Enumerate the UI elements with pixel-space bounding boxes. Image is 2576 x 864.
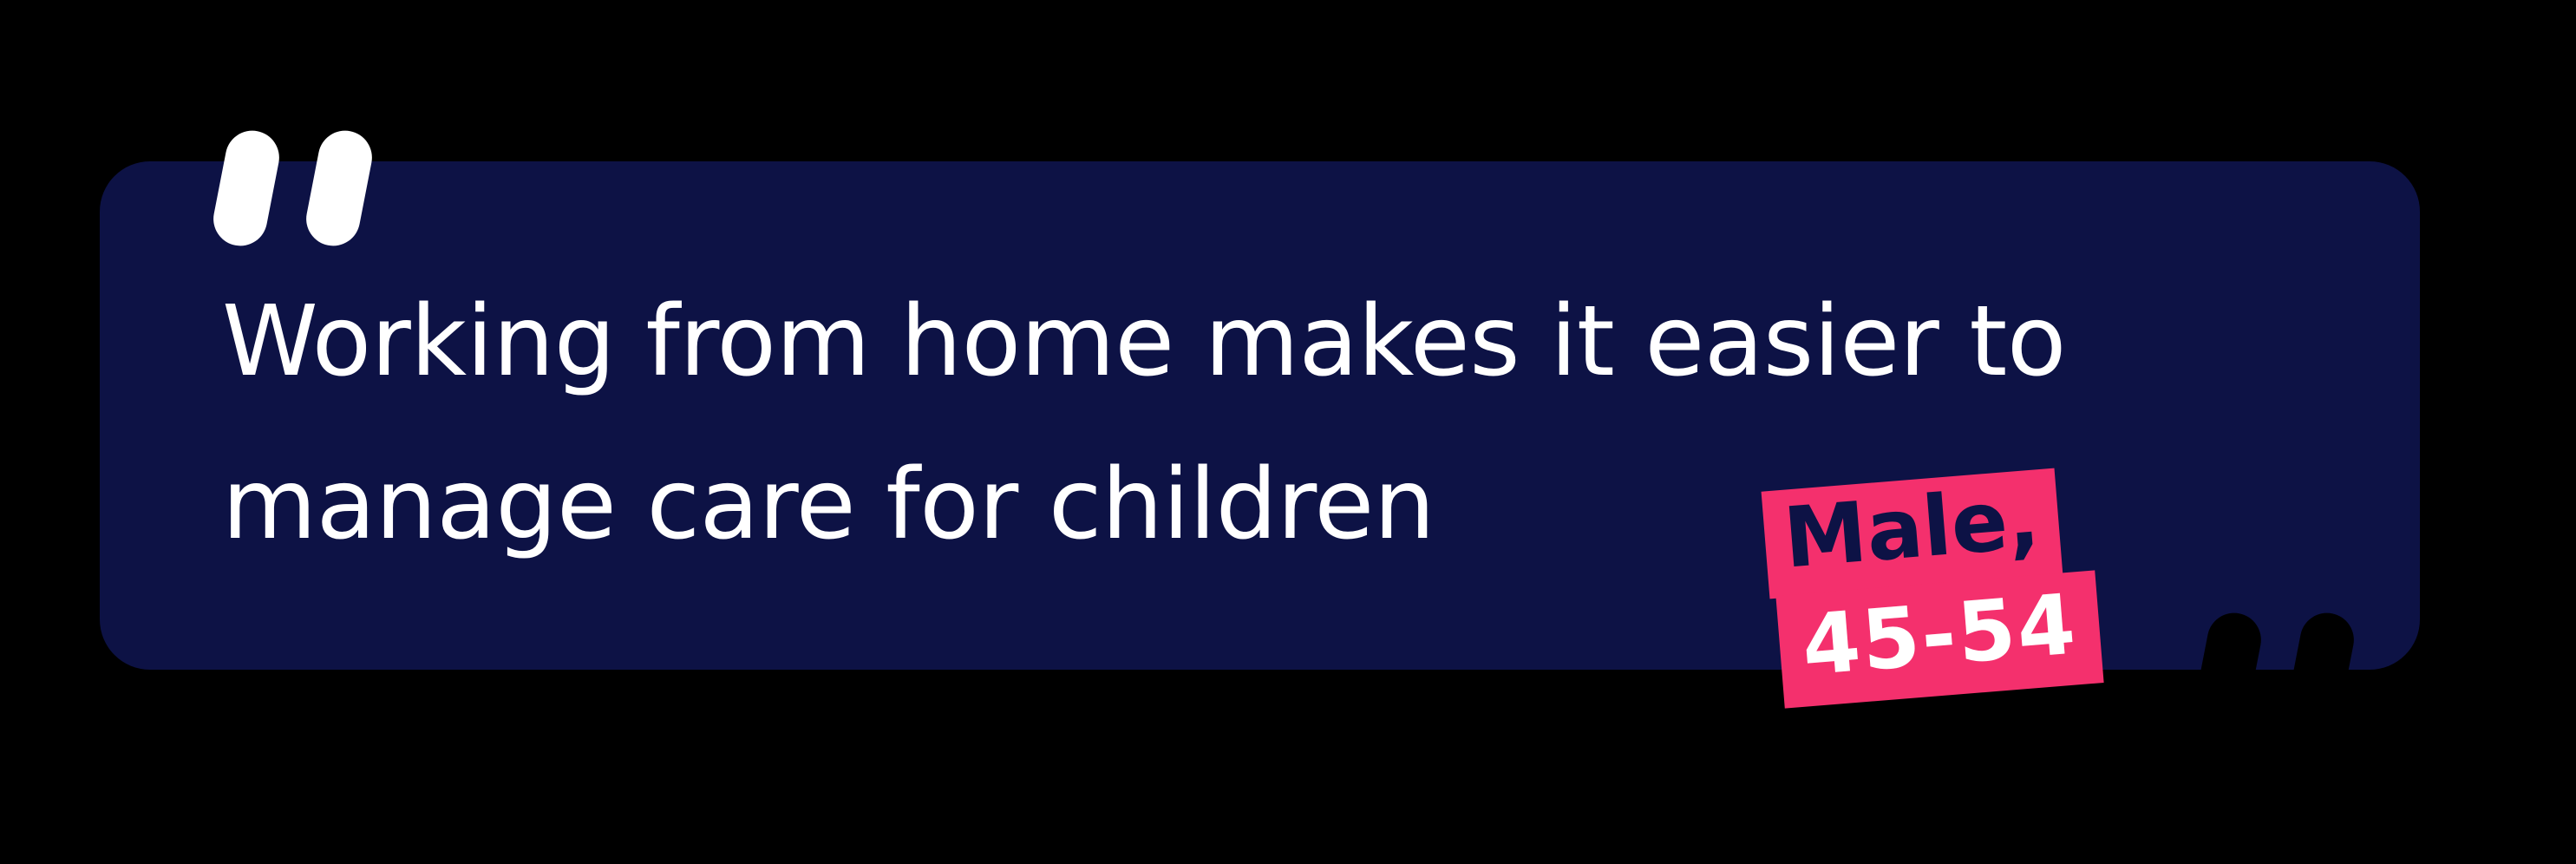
close-quote-stroke-left xyxy=(2191,608,2265,732)
open-quote-stroke-left xyxy=(209,126,284,250)
close-quote-stroke-right xyxy=(2284,608,2358,732)
open-quote-stroke-right xyxy=(302,126,376,250)
quote-card-canvas: Working from home makes it easier to man… xyxy=(0,0,2576,864)
open-quote-mark-icon xyxy=(205,130,387,252)
close-quote-mark-icon xyxy=(2193,612,2366,734)
tag-gender-label: Male, xyxy=(1781,475,2043,581)
tag-age-range-label: 45-54 xyxy=(1799,580,2080,689)
